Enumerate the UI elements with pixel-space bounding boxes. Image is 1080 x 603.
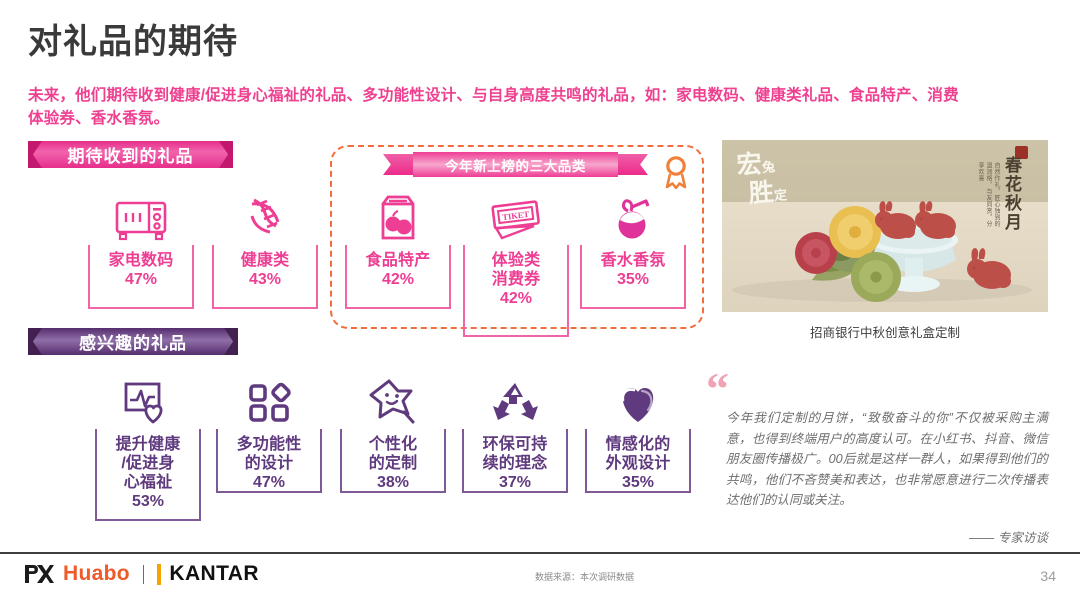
card-expected-1[interactable]: 健康类 43% [212,186,318,309]
logo-huabo-text: Huabo [63,562,130,586]
card-value: 38% [342,473,444,493]
recycle-icon [462,370,568,426]
ribbon-label: 今年新上榜的三大品类 [413,152,618,177]
card-value: 43% [214,270,316,290]
section-banner-interested-label: 感兴趣的礼品 [79,329,187,354]
card-value: 35% [587,473,689,493]
card-label-line2: 续的理念 [464,454,566,473]
card-label-line2: 外观设计 [587,454,689,473]
card-value: 47% [218,473,320,493]
card-expected-0[interactable]: 家电数码 47% [88,186,194,309]
microwave-icon [88,186,194,242]
logo-kantar-text: KANTAR [169,562,259,586]
photo-caption: 招商银行中秋创意礼盒定制 [722,322,1048,341]
card-label: 香水香氛 [582,251,684,270]
card-interested-0[interactable]: 提升健康 /促进身 心福祉 53% [95,370,201,521]
card-label-line1: 提升健康 [97,435,199,454]
ticket-icon: TIKET [463,186,569,242]
health-monitor-heart-icon [95,370,201,426]
kantar-bar-icon [157,564,161,585]
new-entries-ribbon: 今年新上榜的三大品类 [383,152,648,177]
card-label-line2: 消费券 [465,270,567,289]
card-expected-3[interactable]: TIKET 体验类 消费券 42% [463,186,569,337]
mooncake-gift-photo: 宏兔 胜定 春花秋月 自然作礼，匠心独到的温润格，与友同赏，分享欢喜 [722,140,1048,312]
card-value: 47% [90,270,192,290]
card-value: 35% [582,270,684,290]
dna-icon [212,186,318,242]
quote-mark-icon: “ [706,372,729,406]
footer-divider [0,552,1080,554]
slide-root: 对礼品的期待 未来，他们期待收到健康/促进身心福祉的礼品、多功能性设计、与自身高… [0,0,1080,603]
section-banner-expected: 期待收到的礼品 [28,141,233,168]
page-title: 对礼品的期待 [28,14,238,63]
perfume-icon [580,186,686,242]
photo-contents-illustration [722,140,1048,312]
logo-divider [143,565,145,584]
card-label-line1: 多功能性 [218,435,320,454]
card-value: 42% [347,270,449,290]
card-value: 42% [465,289,567,309]
source-note: 数据来源：本次调研数据 [535,570,634,583]
card-interested-2[interactable]: 个性化 的定制 38% [340,370,446,493]
section-banner-interested: 感兴趣的礼品 [28,328,238,355]
card-interested-3[interactable]: 环保可持 续的理念 37% [462,370,568,493]
page-subtitle: 未来，他们期待收到健康/促进身心福祉的礼品、多功能性设计、与自身高度共鸣的礼品，… [28,84,968,130]
card-label-line1: 个性化 [342,435,444,454]
card-value: 37% [464,473,566,493]
card-label-line3: 心福祉 [97,473,199,492]
banner-notch-right-icon [224,328,238,355]
card-expected-4[interactable]: 香水香氛 35% [580,186,686,309]
multifunction-shapes-icon [216,370,322,426]
rx-logo-icon [24,564,54,584]
card-label-line1: 环保可持 [464,435,566,454]
section-banner-expected-label: 期待收到的礼品 [68,142,194,167]
card-label-line1: 体验类 [465,251,567,270]
banner-notch-right-icon [219,141,233,168]
banner-notch-left-icon [28,141,42,168]
food-bag-icon [345,186,451,242]
card-label: 健康类 [214,251,316,270]
card-label-line2: 的设计 [218,454,320,473]
footer-logos: Huabo KANTAR [24,562,259,586]
card-label: 家电数码 [90,251,192,270]
custom-star-icon [340,370,446,426]
award-ribbon-icon [662,155,690,189]
card-label-line2: 的定制 [342,454,444,473]
card-expected-2[interactable]: 食品特产 42% [345,186,451,309]
banner-notch-left-icon [28,328,42,355]
page-number: 34 [1040,568,1056,584]
card-value: 53% [97,492,199,512]
quote-text: 今年我们定制的月饼，“致敬奋斗的你”不仅被采购主满意，也得到终端用户的高度认可。… [726,408,1048,511]
card-interested-4[interactable]: 情感化的 外观设计 35% [585,370,691,493]
card-interested-1[interactable]: 多功能性 的设计 47% [216,370,322,493]
quote-attribution: —— 专家访谈 [726,527,1048,546]
heart-emotion-icon [585,370,691,426]
card-label-line1: 情感化的 [587,435,689,454]
card-label: 食品特产 [347,251,449,270]
card-label-line2: /促进身 [97,454,199,473]
